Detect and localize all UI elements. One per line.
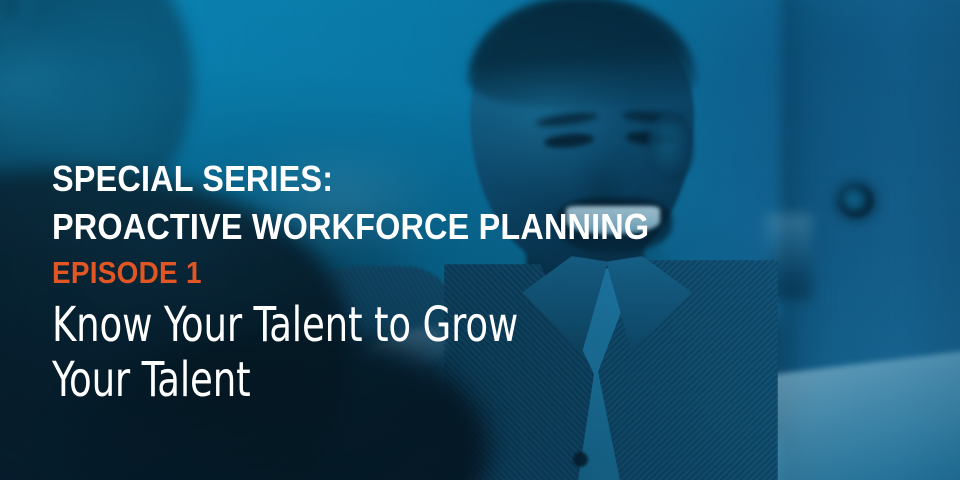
title-block: SPECIAL SERIES: PROACTIVE WORKFORCE PLAN…	[52, 160, 812, 408]
suit-button	[573, 452, 588, 467]
headline-line-1: Know Your Talent to Grow	[52, 298, 706, 353]
episode-headline: Know Your Talent to Grow Your Talent	[52, 298, 706, 408]
series-kicker-line-2: PROACTIVE WORKFORCE PLANNING	[52, 208, 736, 246]
foreground-person-cheek	[0, 30, 104, 170]
headline-line-2: Your Talent	[52, 353, 706, 408]
man-eyebrow-left	[536, 110, 599, 128]
promo-banner: SPECIAL SERIES: PROACTIVE WORKFORCE PLAN…	[0, 0, 960, 480]
man-hair	[468, 0, 696, 108]
episode-label: EPISODE 1	[52, 256, 736, 289]
series-kicker-line-1: SPECIAL SERIES:	[52, 160, 736, 198]
man-eye-left	[544, 132, 595, 149]
